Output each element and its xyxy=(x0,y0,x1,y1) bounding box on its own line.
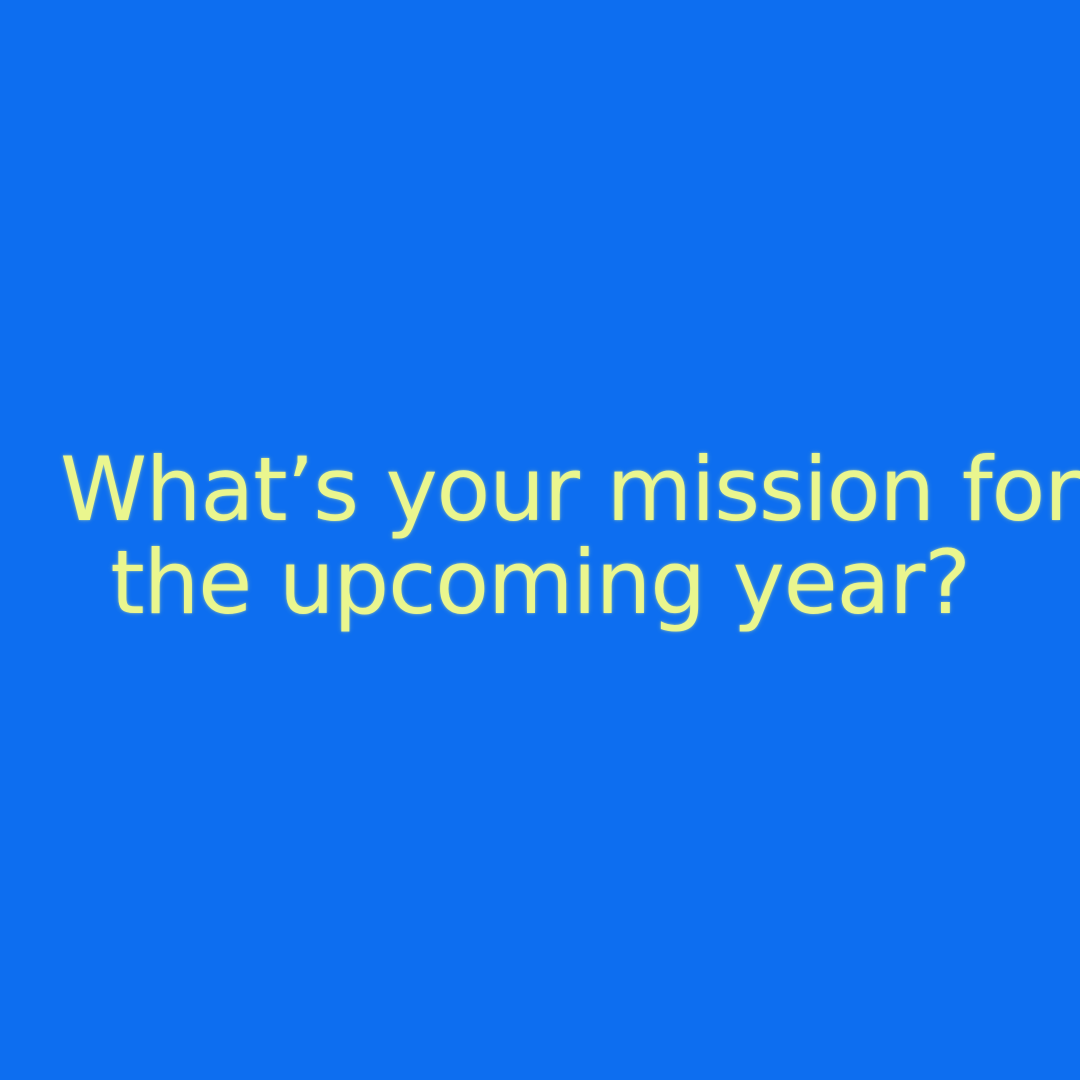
quote-block: What’s your mission for the upcoming yea… xyxy=(40,443,1040,629)
quote-card: What’s your mission for the upcoming yea… xyxy=(0,0,1080,1080)
quote-line-2: the upcoming year? xyxy=(60,536,1020,629)
quote-headline: What’s your mission for the upcoming yea… xyxy=(60,443,1020,629)
quote-line-1: What’s your mission for xyxy=(60,443,1020,536)
